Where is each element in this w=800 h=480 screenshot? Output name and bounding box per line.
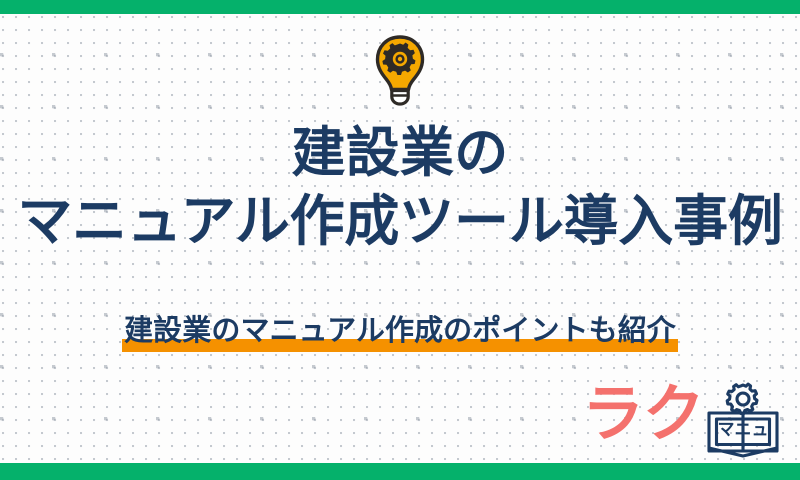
subtitle: 建設業のマニュアル作成のポイントも紹介 — [122, 317, 678, 352]
title-line-2: マニュアル作成ツール導入事例 — [0, 194, 800, 249]
bottom-green-bar — [0, 463, 800, 480]
subtitle-container: 建設業のマニュアル作成のポイントも紹介 — [0, 317, 800, 352]
title-line-1: 建設業の — [0, 126, 800, 180]
book-label: マニュ — [718, 420, 769, 439]
logo-wordmark: ラク — [582, 384, 704, 446]
rakumanu-logo: ラク マニュ — [582, 382, 787, 460]
page-title: 建設業の マニュアル作成ツール導入事例 — [0, 126, 800, 249]
top-green-bar — [0, 0, 800, 14]
banner-image: 建設業の マニュアル作成ツール導入事例 建設業のマニュアル作成のポイントも紹介 … — [0, 0, 800, 480]
book-with-gear-icon: マニュ — [700, 382, 786, 460]
subtitle-text: 建設業のマニュアル作成のポイントも紹介 — [124, 315, 676, 347]
lightbulb-gear-icon — [372, 34, 428, 106]
